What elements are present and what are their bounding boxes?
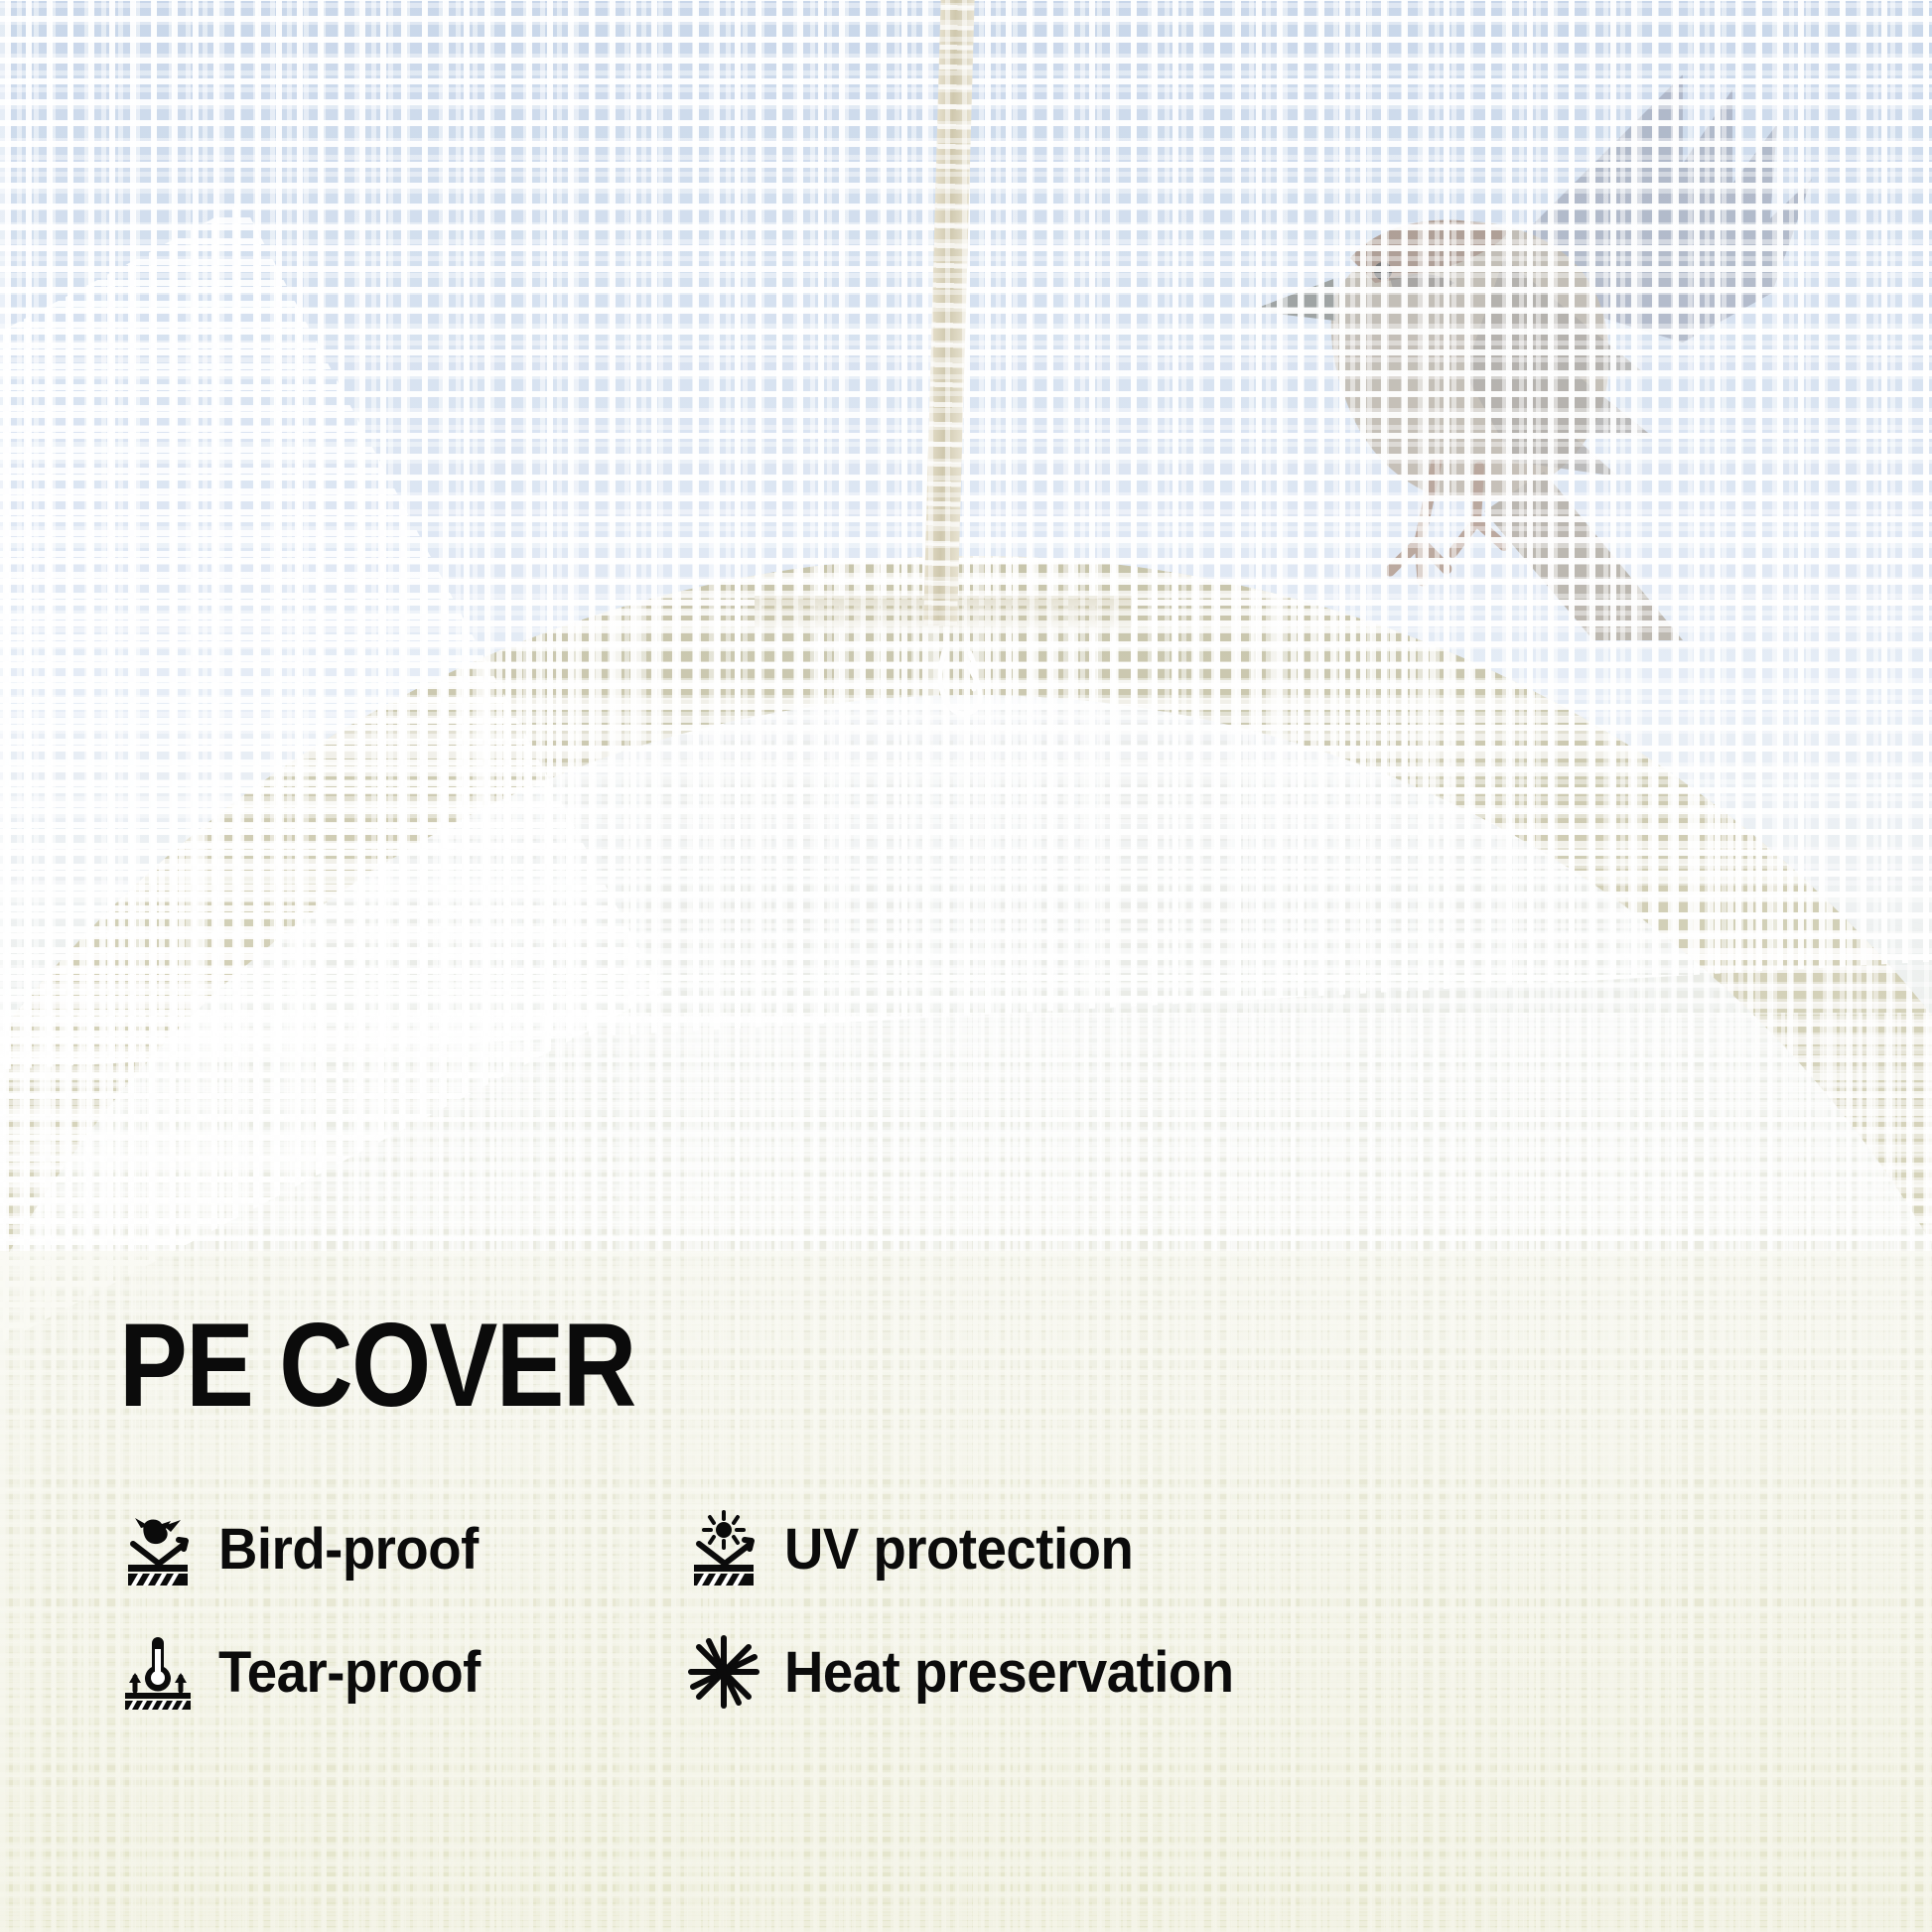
product-feature-image: PE COVER [0,0,1932,1932]
feature-label: Heat preservation [784,1639,1234,1706]
copy-block: PE COVER [119,1306,1608,1711]
feature-label: Bird-proof [218,1516,479,1583]
feature-list: Bird-proof [119,1510,1608,1711]
metal-hook-ring [928,645,992,723]
feature-item-uv-protection: UV protection [685,1510,1608,1587]
feature-item-tear-proof: Tear-proof [119,1633,685,1711]
page-title: PE COVER [119,1306,1400,1425]
starburst-heat-icon [685,1633,762,1711]
feature-label: UV protection [784,1516,1133,1583]
sun-deflect-icon [685,1510,762,1587]
thermometer-layer-icon [119,1633,197,1711]
feature-label: Tear-proof [218,1639,481,1706]
bird-deflect-icon [119,1510,197,1587]
feature-item-bird-proof: Bird-proof [119,1510,685,1587]
feature-item-heat-preservation: Heat preservation [685,1633,1608,1711]
